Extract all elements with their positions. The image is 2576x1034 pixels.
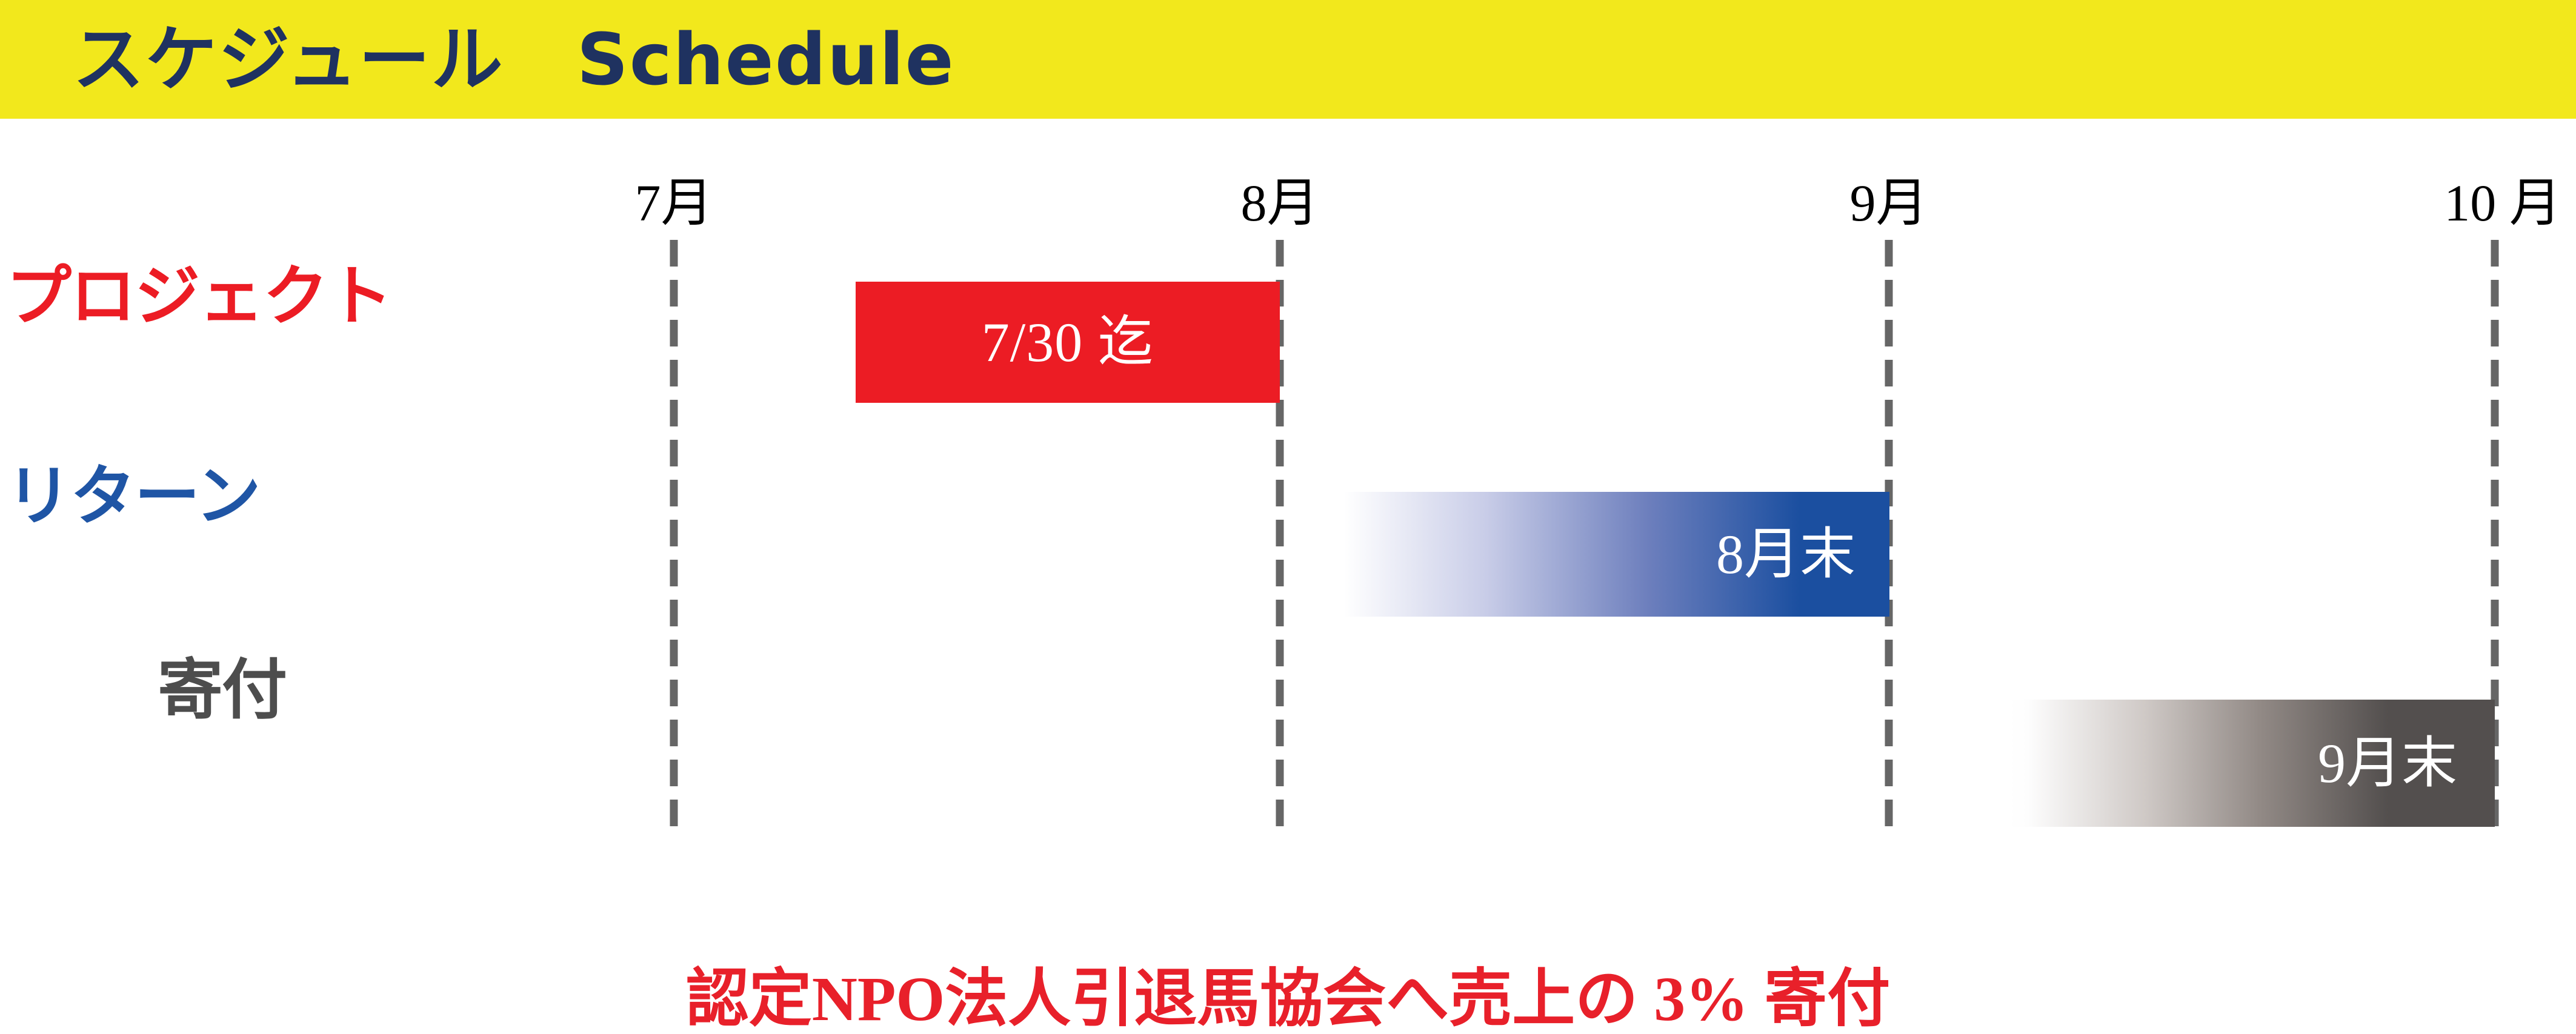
gantt-bar-return-label: 8月末 xyxy=(1716,526,1855,582)
axis-month-label-september: 9月 xyxy=(1850,177,1928,229)
axis-month-label-august: 8月 xyxy=(1241,177,1319,229)
gantt-bar-donation-label: 9月末 xyxy=(2318,735,2457,791)
footer-caption: 認定NPO法人引退馬協会へ売上の 3% 寄付 xyxy=(0,968,2576,1031)
row-label-donation: 寄付 xyxy=(158,658,286,723)
row-label-project: プロジェクト xyxy=(6,264,391,330)
axis-month-label-july: 7月 xyxy=(635,177,713,229)
axis-month-label-october: 10 月 xyxy=(2444,177,2561,229)
row-label-return: リターン xyxy=(6,464,260,529)
gantt-bar-project-label: 7/30 迄 xyxy=(982,314,1154,370)
header-banner: スケジュール Schedule xyxy=(0,0,2576,119)
page-title: スケジュール Schedule xyxy=(73,24,955,95)
gantt-chart: 7月 8月 9月 10 月 プロジェクト リターン 寄付 7/30 迄 8月末 … xyxy=(0,119,2576,969)
gantt-bar-project: 7/30 迄 xyxy=(856,282,1280,403)
gantt-bar-return: 8月末 xyxy=(1327,492,1889,617)
gantt-bar-donation: 9月末 xyxy=(2009,700,2495,827)
gridline-july xyxy=(670,240,678,831)
